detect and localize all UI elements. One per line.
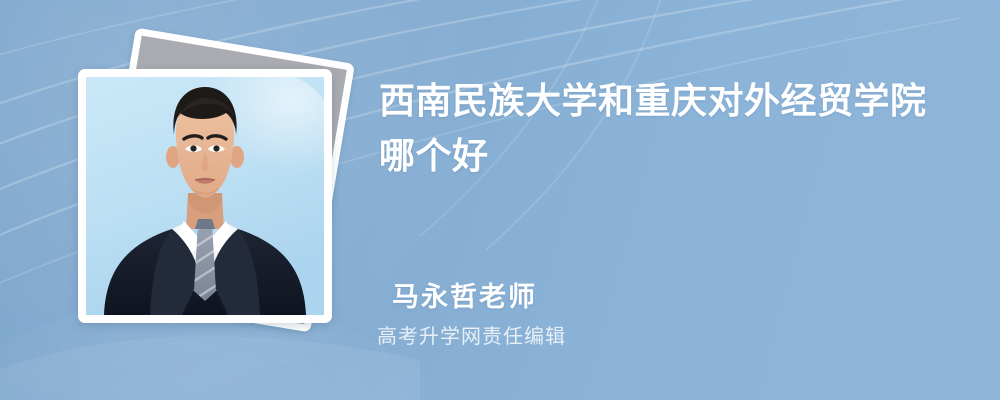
article-cover-banner: 西南民族大学和重庆对外经贸学院哪个好 马永哲老师 高考升学网责任编辑 bbox=[0, 0, 1000, 400]
author-role: 高考升学网责任编辑 bbox=[377, 320, 566, 349]
banner-text-block: 西南民族大学和重庆对外经贸学院哪个好 马永哲老师 高考升学网责任编辑 bbox=[377, 0, 977, 400]
page-title: 西南民族大学和重庆对外经贸学院哪个好 bbox=[379, 73, 959, 183]
photo-card-front bbox=[78, 69, 332, 323]
avatar bbox=[86, 77, 324, 315]
author-name: 马永哲老师 bbox=[392, 275, 537, 314]
photo-stack bbox=[0, 0, 400, 400]
